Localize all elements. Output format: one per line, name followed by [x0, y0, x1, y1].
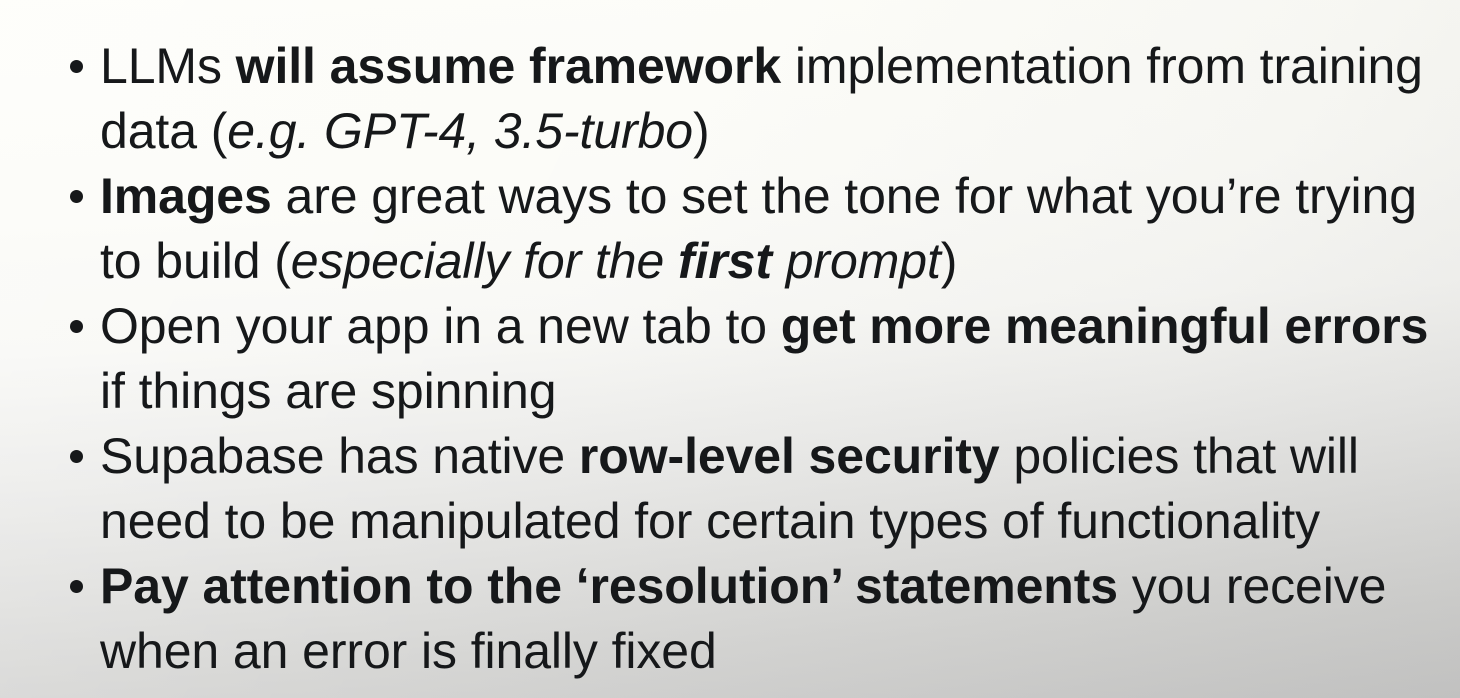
slide-canvas: LLMs will assume framework implementatio…	[0, 0, 1460, 698]
text-run: row-level security	[579, 428, 1000, 484]
list-item-text: LLMs will assume framework implementatio…	[100, 38, 1423, 159]
text-run: get more meaningful errors	[781, 298, 1429, 354]
text-run: e.g. GPT-4, 3.5-turbo	[227, 103, 693, 159]
text-run: Pay attention to the ‘resolution’ statem…	[100, 558, 1118, 614]
text-run: if things are spinning	[100, 363, 556, 419]
list-item: Open your app in a new tab to get more m…	[0, 294, 1460, 424]
text-run: will assume framework	[236, 38, 781, 94]
text-run: LLMs	[100, 38, 236, 94]
list-item: LLMs will assume framework implementatio…	[0, 34, 1460, 164]
list-item-text: Images are great ways to set the tone fo…	[100, 168, 1417, 289]
list-item-text: Pay attention to the ‘resolution’ statem…	[100, 558, 1386, 679]
text-run: )	[941, 233, 958, 289]
bullet-list: LLMs will assume framework implementatio…	[0, 0, 1460, 684]
text-run: Supabase has native	[100, 428, 579, 484]
list-item: Supabase has native row-level security p…	[0, 424, 1460, 554]
bullet-point-icon	[70, 450, 83, 463]
bullet-point-icon	[70, 320, 83, 333]
text-run: Images	[100, 168, 272, 224]
list-item-text: Supabase has native row-level security p…	[100, 428, 1359, 549]
text-run: first	[678, 233, 772, 289]
text-run: especially for the	[291, 233, 678, 289]
bullet-point-icon	[70, 190, 83, 203]
bullet-point-icon	[70, 580, 83, 593]
list-item: Images are great ways to set the tone fo…	[0, 164, 1460, 294]
bullet-point-icon	[70, 60, 83, 73]
list-item: Pay attention to the ‘resolution’ statem…	[0, 554, 1460, 684]
text-run: Open your app in a new tab to	[100, 298, 781, 354]
text-run: prompt	[772, 233, 941, 289]
list-item-text: Open your app in a new tab to get more m…	[100, 298, 1428, 419]
text-run: )	[693, 103, 710, 159]
